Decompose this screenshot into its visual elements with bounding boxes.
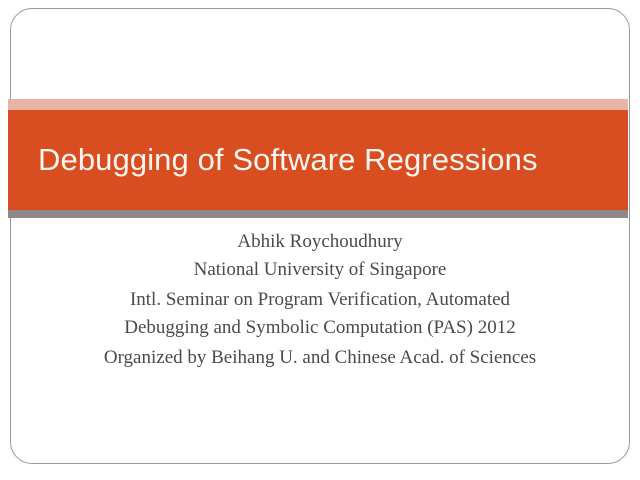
event-name-line-2: Debugging and Symbolic Computation (PAS)… [10, 314, 630, 342]
subtitle-presenter-line: Abhik Roychoudhury [10, 228, 630, 256]
slide-subtitle-block: Abhik Roychoudhury National University o… [10, 228, 630, 372]
banner-accent-strip [8, 99, 628, 110]
presentation-slide: Debugging of Software Regressions Abhik … [0, 0, 640, 480]
title-banner: Debugging of Software Regressions [8, 99, 628, 218]
subtitle-affiliation-line: National University of Singapore [10, 256, 630, 284]
organizers-name: Organized by Beihang U. and Chinese Acad… [10, 344, 630, 372]
banner-shadow-strip [8, 210, 628, 218]
subtitle-organizers-line: Organized by Beihang U. and Chinese Acad… [10, 344, 630, 372]
slide-title: Debugging of Software Regressions [38, 110, 538, 210]
presenter-name: Abhik Roychoudhury [10, 228, 630, 256]
affiliation-name: National University of Singapore [10, 256, 630, 284]
event-name-line-1: Intl. Seminar on Program Verification, A… [10, 286, 630, 314]
subtitle-event-lines: Intl. Seminar on Program Verification, A… [10, 286, 630, 342]
